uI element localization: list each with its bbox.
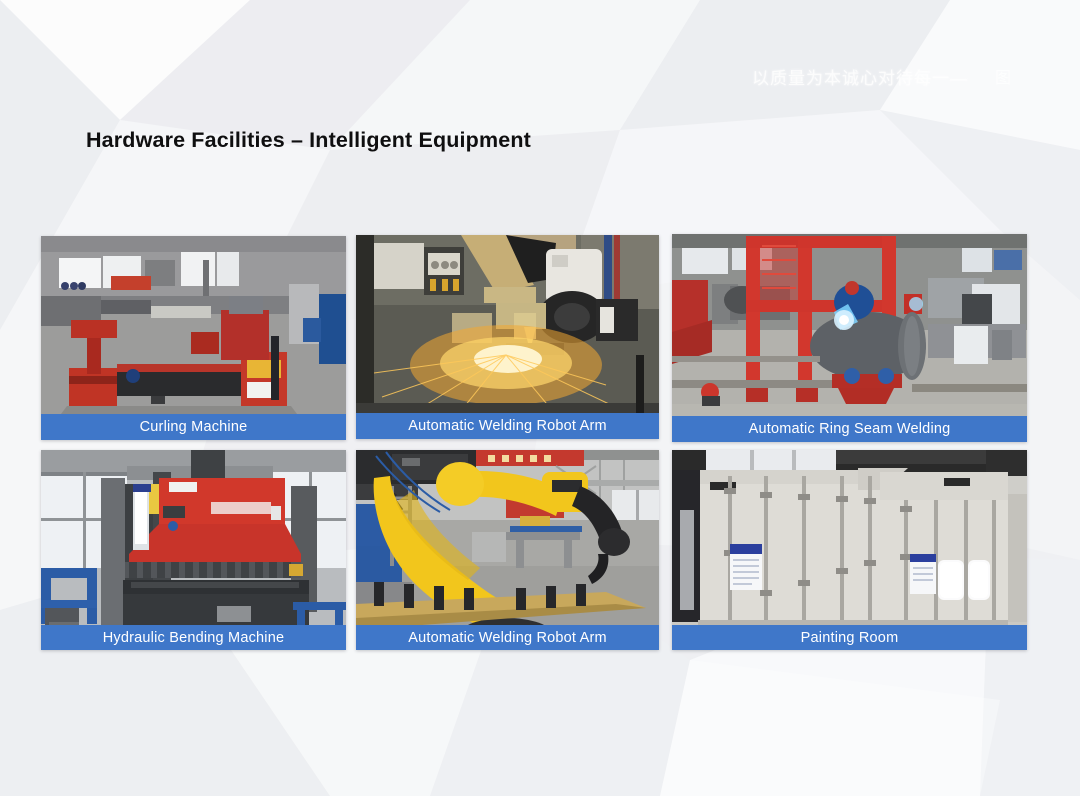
slide-canvas: 以质量为本诚心对待每一— 图 Hardware Facilities – Int… — [0, 0, 1080, 796]
photo-ring-seam-welding — [672, 234, 1027, 442]
tile-caption: Hydraulic Bending Machine — [41, 625, 346, 650]
gallery-tile-welding-robot-arm-bottom[interactable]: Automatic Welding Robot Arm — [356, 450, 659, 650]
gallery-tile-curling-machine[interactable]: Curling Machine — [41, 236, 346, 440]
photo-painting-room — [672, 450, 1027, 650]
tile-caption: Automatic Ring Seam Welding — [672, 416, 1027, 442]
gallery-tile-welding-robot-arm-top[interactable]: Automatic Welding Robot Arm — [356, 235, 659, 439]
page-title: Hardware Facilities – Intelligent Equipm… — [86, 128, 531, 153]
tile-caption: Curling Machine — [41, 414, 346, 440]
watermark-logo-mark: 图 — [995, 64, 1011, 88]
photo-curling-machine — [41, 236, 346, 440]
tile-caption: Automatic Welding Robot Arm — [356, 625, 659, 650]
photo-yellow-welding-robot — [356, 450, 659, 650]
tile-caption: Painting Room — [672, 625, 1027, 650]
photo-welding-robot-sparks — [356, 235, 659, 439]
gallery-tile-painting-room[interactable]: Painting Room — [672, 450, 1027, 650]
gallery-tile-hydraulic-bending-machine[interactable]: Hydraulic Bending Machine — [41, 450, 346, 650]
tile-caption: Automatic Welding Robot Arm — [356, 413, 659, 439]
gallery-tile-ring-seam-welding[interactable]: Automatic Ring Seam Welding — [672, 234, 1027, 442]
photo-hydraulic-bending-machine — [41, 450, 346, 650]
